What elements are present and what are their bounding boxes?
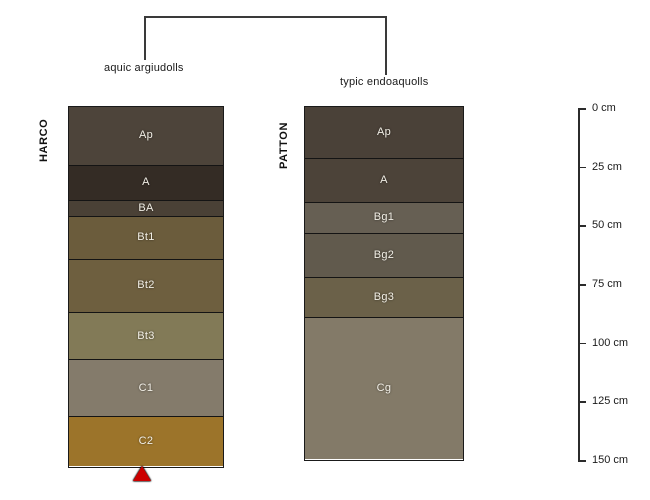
horizon-label: Ap — [377, 127, 391, 138]
soil-horizon-harco-ba: BA — [69, 201, 223, 217]
horizon-label: Bt3 — [137, 331, 154, 342]
depth-tick-label-150: 150 cm — [592, 454, 628, 466]
depth-tick-label-100: 100 cm — [592, 337, 628, 349]
soil-horizon-harco-bt2: Bt2 — [69, 260, 223, 314]
connector-bracket-top — [144, 16, 387, 18]
red-triangle-marker — [133, 466, 151, 481]
horizon-label: C2 — [139, 436, 154, 447]
horizon-label: Ap — [139, 130, 153, 141]
depth-tick-0 — [578, 108, 586, 110]
classification-label-typic-endoaquolls: typic endoaquolls — [340, 76, 428, 88]
classification-label-aquic-argiudolls: aquic argiudolls — [104, 62, 184, 74]
soil-horizon-harco-bt3: Bt3 — [69, 313, 223, 360]
depth-axis: 0 cm25 cm50 cm75 cm100 cm125 cm150 cm — [578, 106, 648, 462]
horizon-label: Bt2 — [137, 280, 154, 291]
horizon-label: Bt1 — [137, 232, 154, 243]
soil-horizon-harco-c1: C1 — [69, 360, 223, 416]
horizon-label: A — [380, 175, 388, 186]
profile-name-harco: HARCO — [38, 119, 50, 162]
soil-horizon-patton-bg1: Bg1 — [305, 203, 463, 234]
soil-horizon-harco-c2: C2 — [69, 417, 223, 466]
horizon-label: A — [142, 177, 150, 188]
soil-horizon-patton-ap: Ap — [305, 107, 463, 159]
connector-bracket-right — [385, 16, 387, 75]
depth-tick-label-0: 0 cm — [592, 102, 616, 114]
horizon-label: Cg — [377, 383, 392, 394]
soil-profile-column-harco: ApABABt1Bt2Bt3C1C2 — [68, 106, 224, 468]
depth-tick-label-75: 75 cm — [592, 278, 622, 290]
depth-tick-label-25: 25 cm — [592, 161, 622, 173]
soil-horizon-patton-a: A — [305, 159, 463, 204]
soil-horizon-harco-bt1: Bt1 — [69, 217, 223, 259]
soil-horizon-patton-bg3: Bg3 — [305, 278, 463, 318]
soil-horizon-patton-cg: Cg — [305, 318, 463, 459]
profile-name-patton: PATTON — [278, 122, 290, 169]
horizon-label: Bg2 — [374, 250, 394, 261]
horizon-label: BA — [138, 203, 153, 214]
depth-tick-50 — [578, 225, 586, 227]
soil-horizon-patton-bg2: Bg2 — [305, 234, 463, 279]
depth-tick-label-50: 50 cm — [592, 219, 622, 231]
soil-profile-column-patton: ApABg1Bg2Bg3Cg — [304, 106, 464, 461]
depth-tick-125 — [578, 401, 586, 403]
horizon-label: Bg3 — [374, 292, 394, 303]
soil-horizon-harco-ap: Ap — [69, 107, 223, 166]
connector-bracket-left — [144, 16, 146, 60]
depth-tick-150 — [578, 460, 586, 462]
horizon-label: Bg1 — [374, 212, 394, 223]
horizon-label: C1 — [139, 383, 154, 394]
depth-tick-25 — [578, 167, 586, 169]
depth-tick-label-125: 125 cm — [592, 395, 628, 407]
soil-horizon-harco-a: A — [69, 166, 223, 201]
soil-profile-figure: aquic argiudolls typic endoaquolls HARCO… — [0, 0, 650, 500]
depth-tick-100 — [578, 343, 586, 345]
depth-tick-75 — [578, 284, 586, 286]
